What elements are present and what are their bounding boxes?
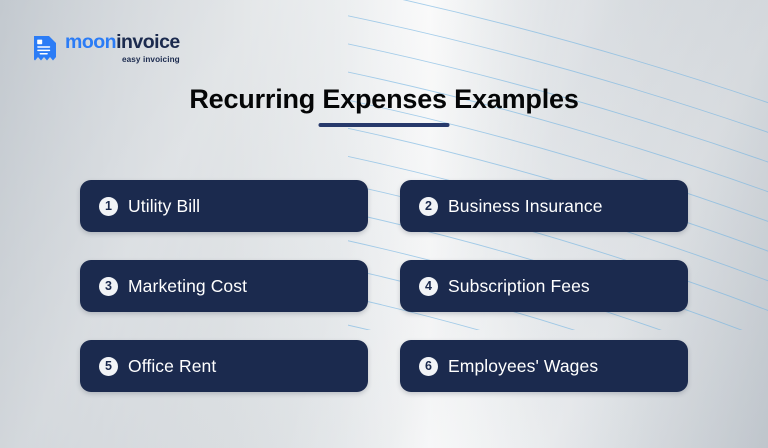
example-card[interactable]: 4 Subscription Fees — [400, 260, 688, 312]
title-underline — [319, 123, 450, 127]
brand-logo[interactable]: mooninvoice easy invoicing — [32, 33, 180, 64]
card-number-badge: 1 — [99, 197, 118, 216]
examples-grid: 1 Utility Bill 2 Business Insurance 3 Ma… — [80, 180, 688, 392]
example-card[interactable]: 5 Office Rent — [80, 340, 368, 392]
card-label: Business Insurance — [448, 196, 603, 217]
card-number-badge: 3 — [99, 277, 118, 296]
invoice-document-icon — [32, 35, 58, 62]
page-title: Recurring Expenses Examples — [0, 84, 768, 115]
example-card[interactable]: 1 Utility Bill — [80, 180, 368, 232]
example-card[interactable]: 2 Business Insurance — [400, 180, 688, 232]
brand-name-moon: moon — [65, 31, 116, 53]
card-label: Employees' Wages — [448, 356, 598, 377]
card-number-badge: 5 — [99, 357, 118, 376]
brand-name-invoice: invoice — [116, 31, 180, 53]
card-number-badge: 2 — [419, 197, 438, 216]
card-number-badge: 4 — [419, 277, 438, 296]
card-label: Marketing Cost — [128, 276, 247, 297]
example-card[interactable]: 6 Employees' Wages — [400, 340, 688, 392]
card-label: Office Rent — [128, 356, 216, 377]
brand-tagline: easy invoicing — [122, 56, 180, 64]
infographic-canvas: mooninvoice easy invoicing Recurring Exp… — [0, 0, 768, 448]
example-card[interactable]: 3 Marketing Cost — [80, 260, 368, 312]
card-label: Subscription Fees — [448, 276, 590, 297]
card-number-badge: 6 — [419, 357, 438, 376]
card-label: Utility Bill — [128, 196, 200, 217]
brand-wordmark: mooninvoice easy invoicing — [65, 33, 180, 64]
